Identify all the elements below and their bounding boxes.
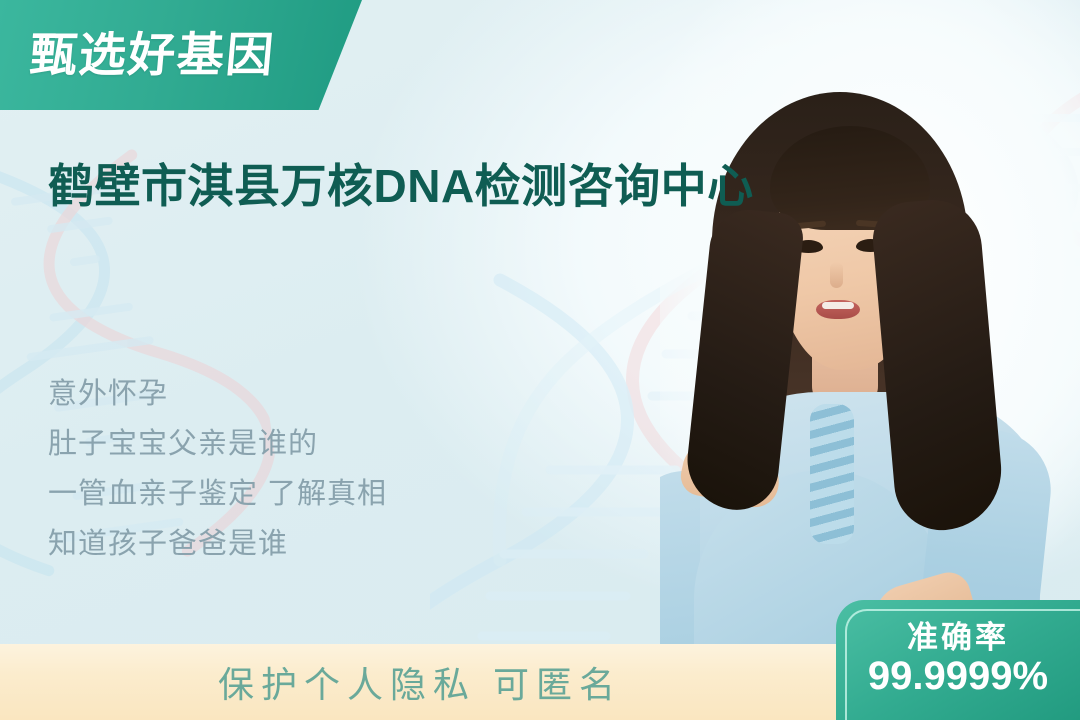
model-photo: [660, 0, 1080, 700]
copy-line-4: 知道孩子爸爸是谁: [48, 520, 608, 570]
nose: [830, 262, 843, 288]
promo-banner: 甄选好基因 鹤壁市淇县万核DNA检测咨询中心 意外怀孕 肚子宝宝父亲是谁的 一管…: [0, 0, 1080, 720]
dress-ruffle: [810, 404, 854, 544]
accuracy-label: 准确率: [907, 621, 1009, 654]
logo-ribbon: 甄选好基因: [0, 0, 362, 110]
accuracy-badge: 准确率 99.9999%: [836, 600, 1080, 720]
logo-text: 甄选好基因: [0, 32, 277, 79]
copy-line-1: 意外怀孕: [48, 370, 608, 420]
page-title: 鹤壁市淇县万核DNA检测咨询中心: [48, 158, 828, 216]
copy-line-3: 一管血亲子鉴定 了解真相: [48, 470, 608, 520]
privacy-note: 保护个人隐私 可匿名: [0, 644, 840, 720]
teeth: [822, 302, 854, 309]
accuracy-value: 99.9999%: [868, 654, 1048, 699]
copy-line-2: 肚子宝宝父亲是谁的: [48, 420, 608, 470]
marketing-copy: 意外怀孕 肚子宝宝父亲是谁的 一管血亲子鉴定 了解真相 知道孩子爸爸是谁: [48, 370, 608, 570]
